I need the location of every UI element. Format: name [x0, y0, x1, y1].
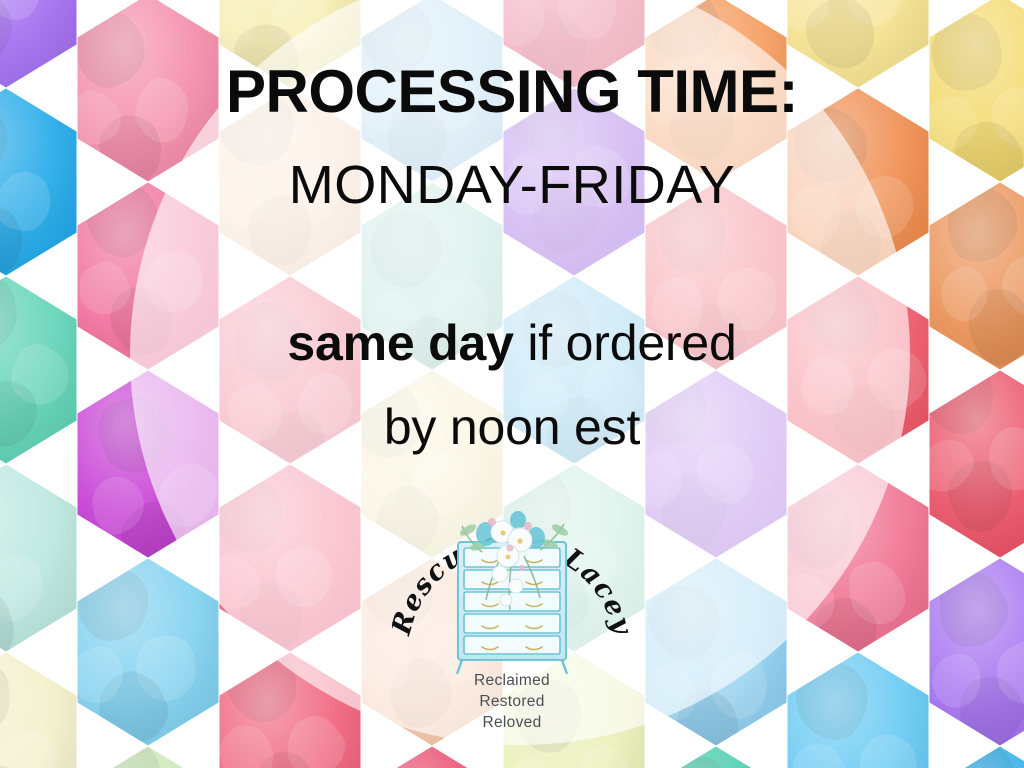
honeycomb-background	[0, 0, 1024, 768]
graphic-canvas: PROCESSING TIME: MONDAY-FRIDAY same day …	[0, 0, 1024, 768]
circle-highlight-overlay	[130, 0, 910, 745]
